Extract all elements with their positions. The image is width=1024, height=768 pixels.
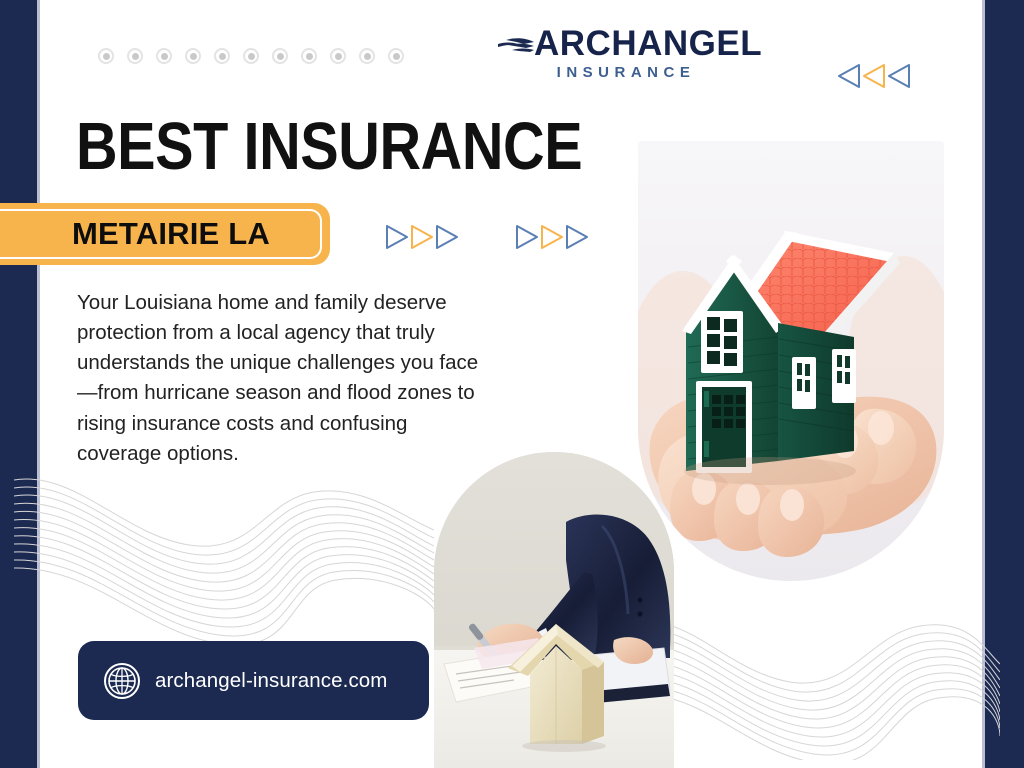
globe-icon — [103, 662, 141, 700]
arrow-group-mid-b — [511, 222, 593, 252]
page-title: BEST INSURANCE — [76, 113, 582, 180]
decorative-dot — [272, 48, 288, 64]
decorative-dot — [359, 48, 375, 64]
triangle-right-icon — [431, 222, 463, 252]
secondary-photo-document-signing — [434, 452, 674, 768]
logo-wordmark: ARCHANGEL — [534, 26, 762, 61]
website-url-label: archangel-insurance.com — [155, 669, 387, 693]
decorative-dot — [185, 48, 201, 64]
body-paragraph: Your Louisiana home and family deserve p… — [77, 288, 489, 469]
decorative-dots-row — [98, 48, 404, 64]
flyer-canvas: ARCHANGEL INSURANCE BEST INSURANCE METAI… — [0, 0, 1024, 768]
decorative-dot — [98, 48, 114, 64]
arrow-group-topright — [833, 61, 915, 91]
location-badge: METAIRIE LA — [0, 203, 330, 265]
left-bar-hairline — [37, 0, 40, 768]
decorative-dot — [243, 48, 259, 64]
wave-decoration-left — [14, 440, 434, 670]
brand-logo: ARCHANGEL INSURANCE — [496, 26, 726, 81]
decorative-dot — [127, 48, 143, 64]
hero-photo-house-in-hands — [638, 141, 944, 581]
location-badge-label: METAIRIE LA — [72, 216, 270, 252]
decorative-dot — [388, 48, 404, 64]
decorative-dot — [214, 48, 230, 64]
left-navy-bar — [0, 0, 37, 768]
logo-subtitle: INSURANCE — [526, 64, 726, 81]
decorative-dot — [330, 48, 346, 64]
wave-decoration-right — [640, 560, 1000, 760]
wing-icon — [496, 33, 536, 59]
right-bar-hairline — [982, 0, 985, 768]
triangle-right-icon — [561, 222, 593, 252]
signing-photo-illustration — [434, 452, 674, 768]
right-navy-bar — [985, 0, 1024, 768]
decorative-dot — [156, 48, 172, 64]
hero-photo-illustration — [638, 141, 944, 581]
triangle-left-icon — [883, 61, 915, 91]
arrow-group-mid-a — [381, 222, 463, 252]
website-url-bar[interactable]: archangel-insurance.com — [78, 641, 429, 720]
decorative-dot — [301, 48, 317, 64]
